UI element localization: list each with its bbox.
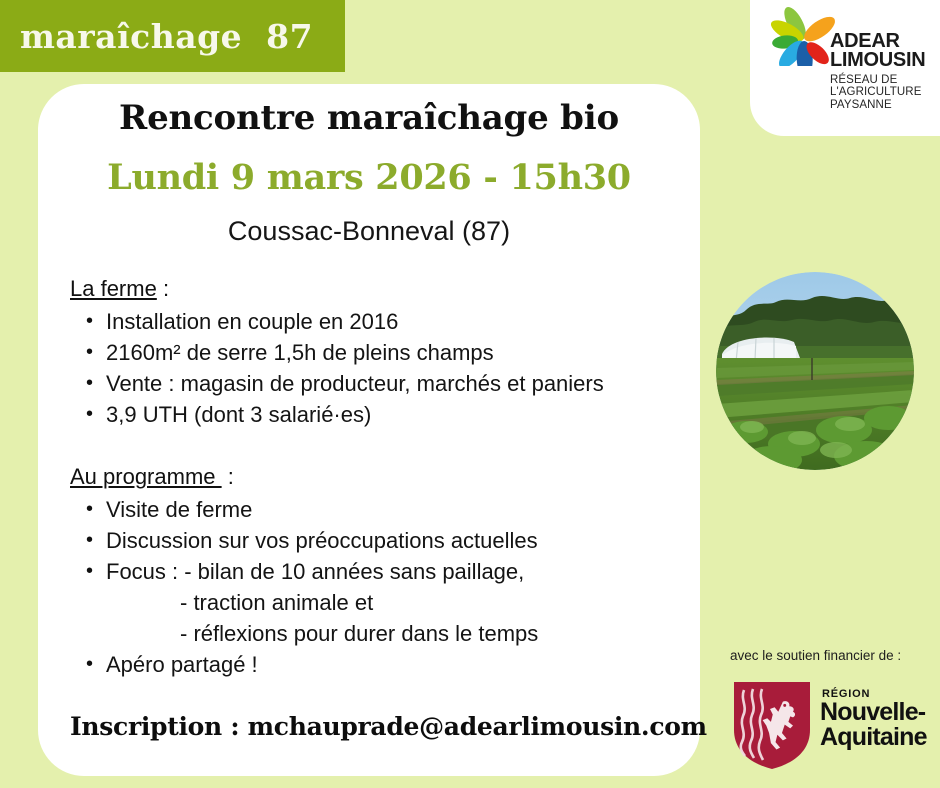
list-item: Focus : - bilan de 10 années sans pailla…	[106, 556, 690, 587]
list-item: Vente : magasin de producteur, marchés e…	[106, 368, 690, 399]
section-au-programme: Au programme : Visite de ferme Discussio…	[70, 464, 690, 680]
region-name: Nouvelle- Aquitaine	[820, 700, 927, 750]
section-heading-au-programme: Au programme :	[70, 464, 690, 490]
list-item: Visite de ferme	[106, 494, 690, 525]
list-item: Apéro partagé !	[106, 649, 690, 680]
page-title: Rencontre maraîchage bio	[38, 98, 700, 138]
inscription-line[interactable]: Inscription : mchauprade@adearlimousin.c…	[70, 712, 707, 741]
adear-logo-panel: ADEAR LIMOUSIN RÉSEAU DE L'AGRICULTURE P…	[750, 0, 940, 136]
focus-continuation-line: - réflexions pour durer dans le temps	[70, 618, 690, 649]
ferme-bullet-list: Installation en couple en 2016 2160m² de…	[70, 306, 690, 430]
adear-name-line2: LIMOUSIN	[830, 51, 925, 70]
farm-photo-illustration	[716, 272, 914, 470]
banner-label: maraîchage 87	[0, 17, 313, 56]
shield-lion-icon	[730, 678, 814, 772]
farm-photo	[716, 272, 914, 470]
section-la-ferme: La ferme : Installation en couple en 201…	[70, 276, 690, 430]
adear-tagline-line2: L'AGRICULTURE	[830, 86, 921, 98]
event-location: Coussac-Bonneval (87)	[38, 216, 700, 247]
section-heading-underlined-text: Au programme	[70, 464, 222, 489]
section-heading-underlined-text: La ferme	[70, 276, 157, 301]
adear-name: ADEAR LIMOUSIN	[830, 32, 925, 70]
adear-tagline-line3: PAYSANNE	[830, 99, 921, 111]
programme-bullet-list-end: Apéro partagé !	[70, 649, 690, 680]
section-heading-suffix: :	[222, 464, 234, 489]
list-item: 3,9 UTH (dont 3 salarié·es)	[106, 399, 690, 430]
list-item: Installation en couple en 2016	[106, 306, 690, 337]
funder-intro-text: avec le soutien financier de :	[730, 648, 930, 663]
adear-tagline: RÉSEAU DE L'AGRICULTURE PAYSANNE	[830, 74, 921, 111]
programme-bullet-list: Visite de ferme Discussion sur vos préoc…	[70, 494, 690, 587]
poster-root: maraîchage 87 ADEAR LIMOUSIN R	[0, 0, 940, 788]
header-banner: maraîchage 87	[0, 0, 345, 72]
section-heading-suffix: :	[157, 276, 169, 301]
adear-logo: ADEAR LIMOUSIN RÉSEAU DE L'AGRICULTURE P…	[760, 4, 940, 134]
focus-continuation-line: - traction animale et	[70, 587, 690, 618]
region-nouvelle-aquitaine-logo: RÉGION Nouvelle- Aquitaine	[730, 676, 930, 774]
region-name-line2: Aquitaine	[820, 725, 927, 750]
event-date: Lundi 9 mars 2026 - 15h30	[38, 157, 700, 198]
list-item: 2160m² de serre 1,5h de pleins champs	[106, 337, 690, 368]
adear-tagline-line1: RÉSEAU DE	[830, 74, 921, 86]
section-heading-la-ferme: La ferme :	[70, 276, 690, 302]
region-name-line1: Nouvelle-	[820, 700, 927, 725]
main-content-card: Rencontre maraîchage bio Lundi 9 mars 20…	[38, 84, 700, 776]
list-item: Discussion sur vos préoccupations actuel…	[106, 525, 690, 556]
